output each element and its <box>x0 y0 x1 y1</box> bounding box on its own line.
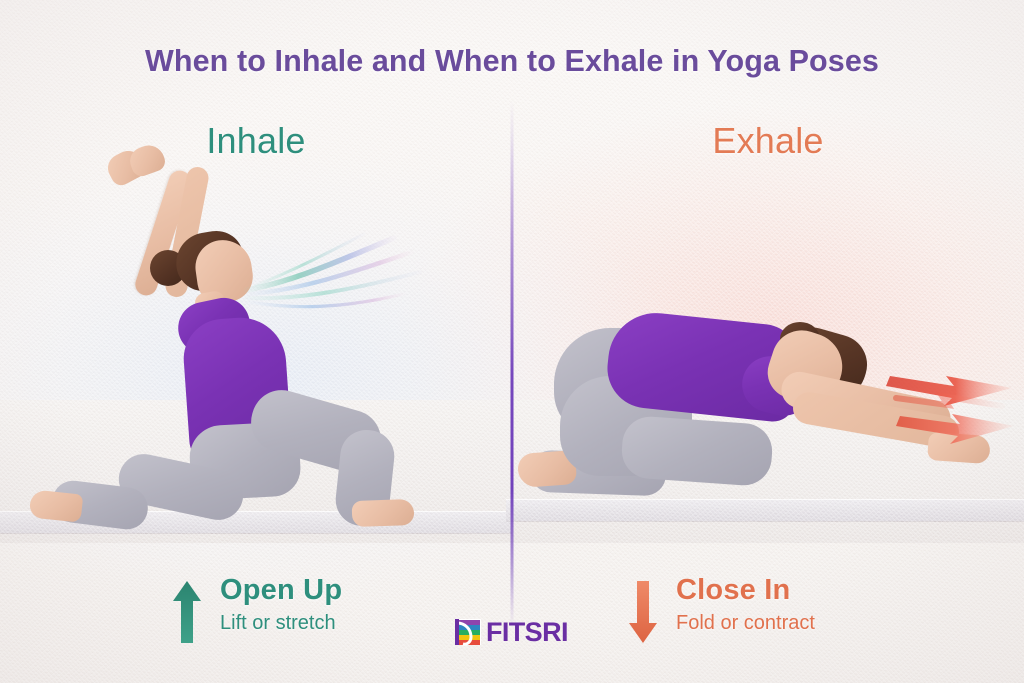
callout-close-in: Close In Fold or contract <box>628 575 815 645</box>
right-figure-thigh <box>620 415 774 487</box>
fitsri-rainbow-mark-icon <box>455 617 481 647</box>
callout-title-open-up: Open Up <box>220 575 342 606</box>
yoga-mat-right <box>506 499 1024 521</box>
callout-subtitle-lift: Lift or stretch <box>220 610 342 636</box>
exhale-breath-arrows-icon <box>826 370 1016 480</box>
page-title: When to Inhale and When to Exhale in Yog… <box>0 44 1024 79</box>
infographic-poster: When to Inhale and When to Exhale in Yog… <box>0 0 1024 683</box>
vertical-divider <box>511 100 514 628</box>
fitsri-wordmark: FITSRI <box>486 619 568 646</box>
inhale-breath-swirl-icon <box>244 216 444 326</box>
panel-inhale: Inhale <box>0 0 512 683</box>
panel-exhale: Exhale <box>512 0 1024 683</box>
down-arrow-icon <box>628 579 658 645</box>
up-arrow-icon <box>172 579 202 645</box>
callout-open-up: Open Up Lift or stretch <box>172 575 342 645</box>
fitsri-logo[interactable]: FITSRI <box>455 617 568 647</box>
heading-inhale: Inhale <box>0 120 512 162</box>
heading-exhale: Exhale <box>512 120 1024 162</box>
callout-title-close-in: Close In <box>676 575 815 606</box>
left-figure-front-foot <box>352 499 415 527</box>
callout-subtitle-fold: Fold or contract <box>676 610 815 636</box>
